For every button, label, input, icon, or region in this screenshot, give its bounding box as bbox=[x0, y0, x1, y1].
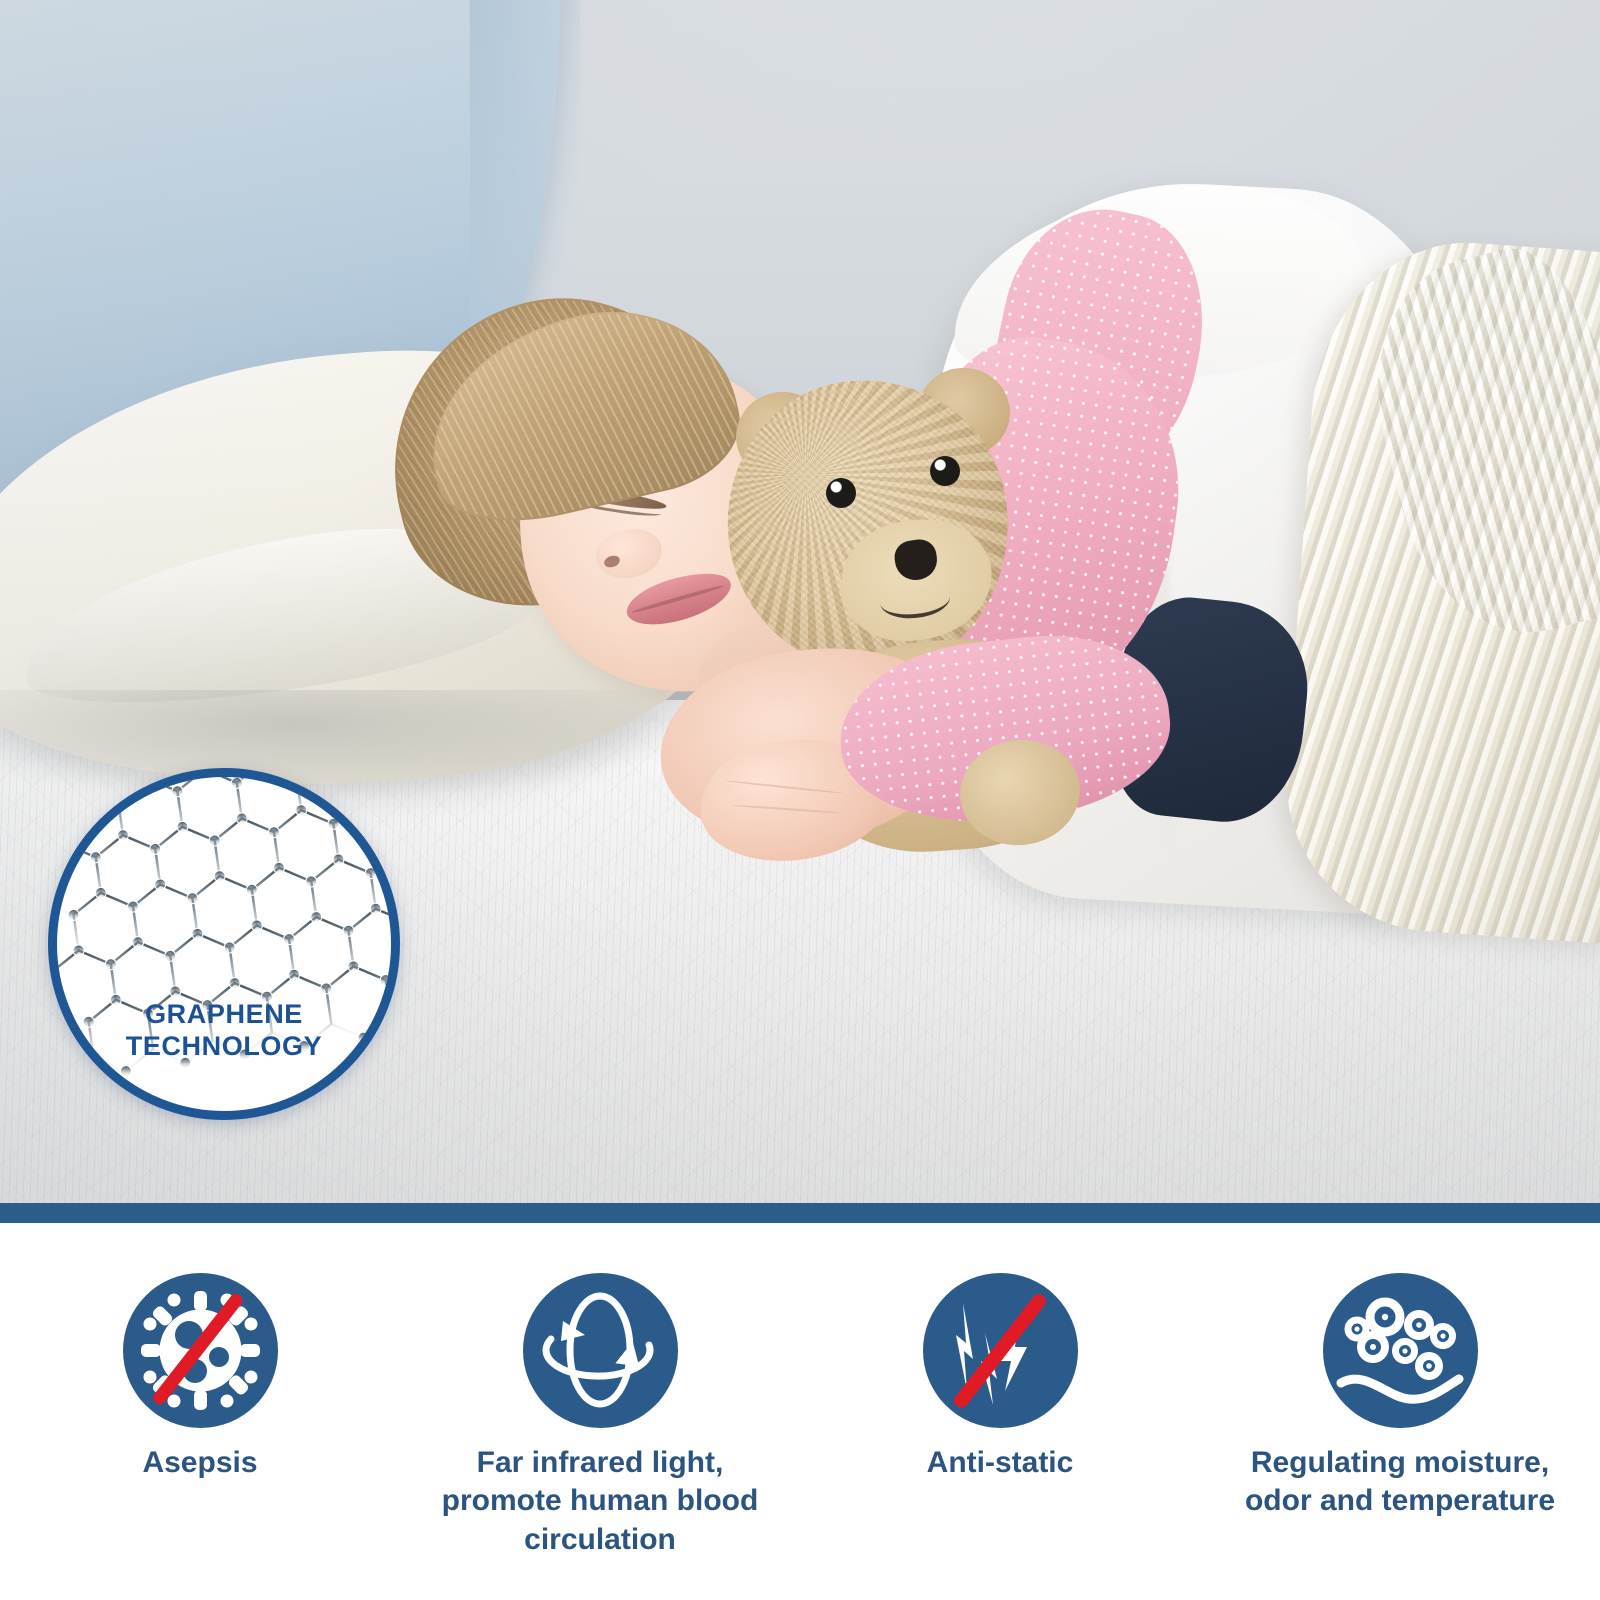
germ-blocked-icon bbox=[123, 1273, 278, 1428]
teddy-eye-left bbox=[826, 478, 856, 508]
feature-asepsis: Asepsis bbox=[0, 1223, 400, 1600]
feature-moisture: Regulating moisture, odor and temperatur… bbox=[1200, 1223, 1600, 1600]
badge-title-line-1: GRAPHENE bbox=[57, 999, 391, 1031]
product-feature-graphic: GRAPHENE TECHNOLOGY bbox=[0, 0, 1600, 1600]
feature-label-anti-static: Anti-static bbox=[927, 1444, 1074, 1482]
feature-label-asepsis: Asepsis bbox=[142, 1444, 257, 1482]
graphene-technology-badge: GRAPHENE TECHNOLOGY bbox=[48, 768, 400, 1120]
feature-label-far-infrared: Far infrared light, promote human blood … bbox=[435, 1444, 765, 1559]
teddy-eye-right bbox=[930, 456, 960, 486]
feature-far-infrared: Far infrared light, promote human blood … bbox=[400, 1223, 800, 1600]
lightning-blocked-icon bbox=[923, 1273, 1078, 1428]
feature-anti-static: Anti-static bbox=[800, 1223, 1200, 1600]
circulation-orbit-icon bbox=[523, 1273, 678, 1428]
badge-title: GRAPHENE TECHNOLOGY bbox=[57, 999, 391, 1063]
moisture-bubbles-icon bbox=[1323, 1273, 1478, 1428]
badge-title-line-2: TECHNOLOGY bbox=[57, 1031, 391, 1063]
section-divider bbox=[0, 1203, 1600, 1223]
feature-label-moisture: Regulating moisture, odor and temperatur… bbox=[1235, 1444, 1565, 1521]
feature-strip: Asepsis Far infrared light, promote huma… bbox=[0, 1223, 1600, 1600]
